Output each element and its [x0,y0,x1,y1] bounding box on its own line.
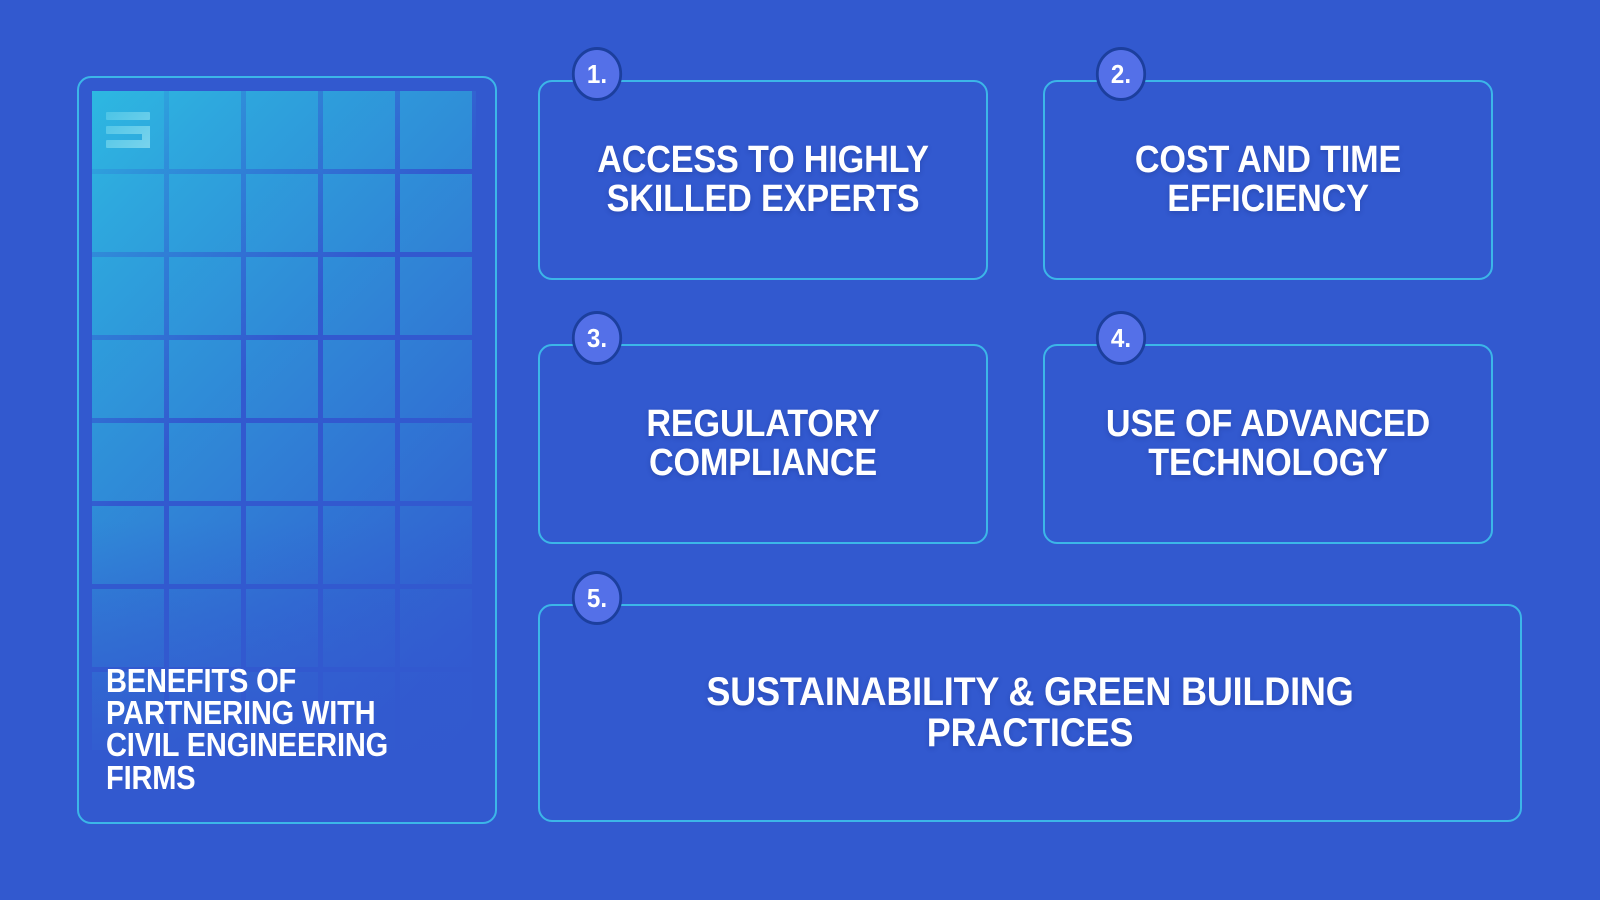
benefit-card-4-number-badge: 4. [1096,311,1146,365]
page-title: BENEFITS OF PARTNERING WITH CIVIL ENGINE… [106,665,405,794]
benefit-card-3-title: REGULATORY COMPLIANCE [562,405,963,483]
benefit-card-2-title: COST AND TIME EFFICIENCY [1067,141,1468,219]
benefit-card-5-number-badge: 5. [572,571,622,625]
benefit-card-5[interactable]: SUSTAINABILITY & GREEN BUILDING PRACTICE… [538,604,1522,822]
benefit-card-5-title: SUSTAINABILITY & GREEN BUILDING PRACTICE… [589,672,1471,754]
benefit-card-1[interactable]: ACCESS TO HIGHLY SKILLED EXPERTS [538,80,988,280]
benefit-card-1-title: ACCESS TO HIGHLY SKILLED EXPERTS [562,141,963,219]
benefit-card-3[interactable]: REGULATORY COMPLIANCE [538,344,988,544]
benefit-card-4-title: USE OF ADVANCED TECHNOLOGY [1067,405,1468,483]
benefit-card-1-number-badge: 1. [572,47,622,101]
benefit-card-4[interactable]: USE OF ADVANCED TECHNOLOGY [1043,344,1493,544]
benefit-card-3-number-badge: 3. [572,311,622,365]
benefit-card-2-number-badge: 2. [1096,47,1146,101]
benefit-card-2[interactable]: COST AND TIME EFFICIENCY [1043,80,1493,280]
